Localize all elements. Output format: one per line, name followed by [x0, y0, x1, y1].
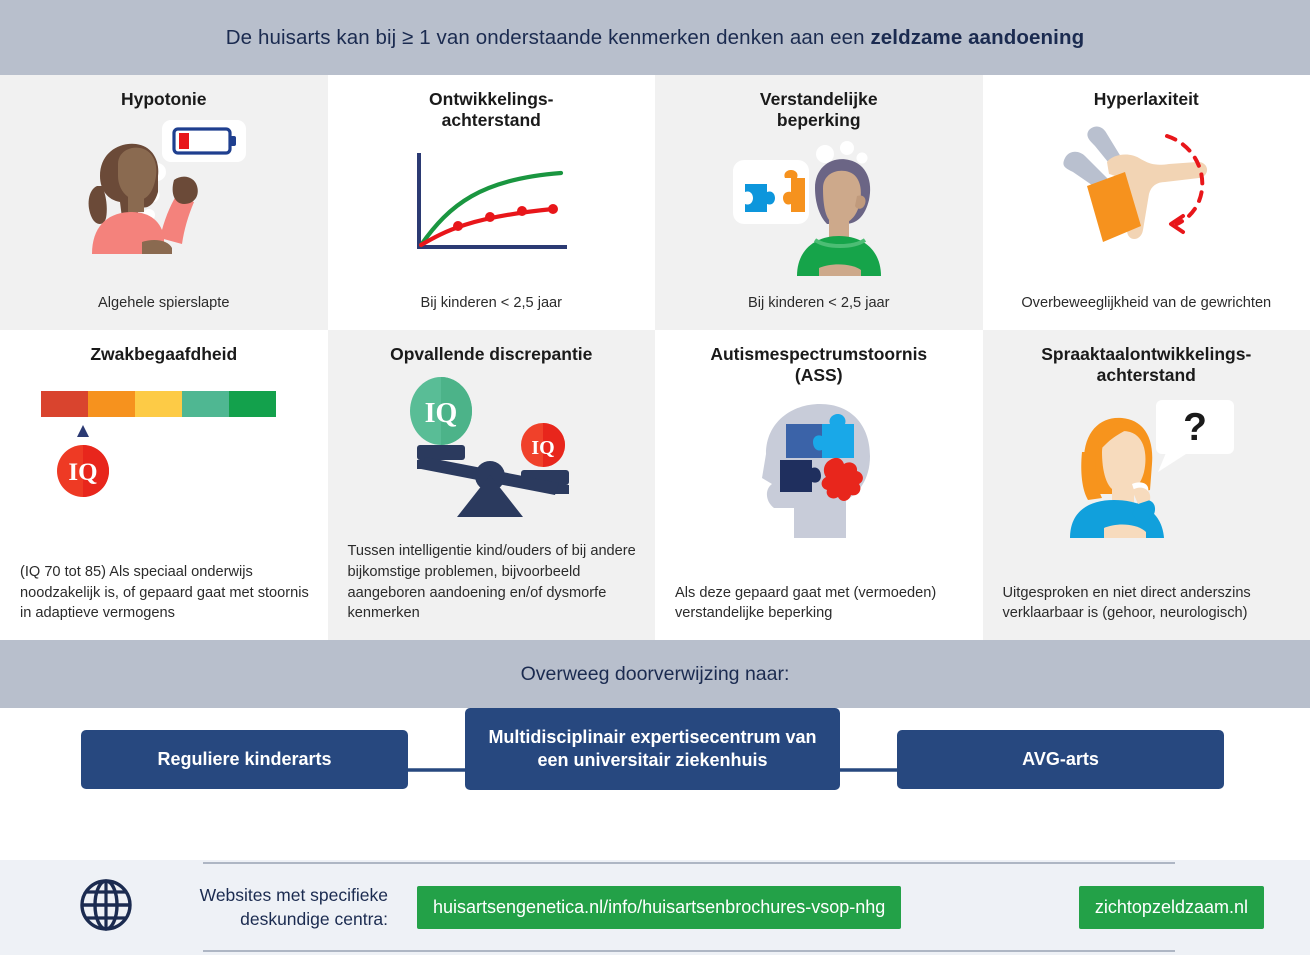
svg-text:IQ: IQ [532, 437, 555, 459]
referral-banner: Overweeg doorverwijzing naar: [0, 640, 1310, 708]
referral-option-reguliere-kinderarts[interactable]: Reguliere kinderarts [81, 730, 408, 789]
card-caption: Uitgesproken en niet direct anderszins v… [995, 583, 1299, 640]
page-title-emphasis: zeldzame aandoening [870, 26, 1084, 49]
svg-text:IQ: IQ [425, 398, 458, 429]
card-hypotonie[interactable]: Hypotonie [0, 75, 328, 330]
card-caption: Algehele spierslapte [98, 293, 229, 330]
card-caption: Bij kinderen < 2,5 jaar [748, 293, 890, 330]
referral-options-area: Reguliere kinderarts Multidisciplinair e… [0, 708, 1310, 860]
card-autismespectrumstoornis[interactable]: Autismespectrumstoornis (ASS) Als deze g… [655, 330, 983, 640]
footer-label-line-2: deskundige centra: [156, 908, 388, 931]
card-illustration [719, 136, 919, 276]
svg-text:?: ? [1183, 406, 1207, 449]
footer-divider-top [203, 862, 1175, 864]
card-hyperlaxiteit[interactable]: Hyperlaxiteit Overbeweeglijkheid van de … [983, 75, 1310, 330]
iq-gradient-scale-icon: IQ [19, 381, 309, 511]
growth-curve-chart-icon [401, 147, 581, 265]
hypermobile-hand-icon [1051, 114, 1241, 254]
card-illustration [1051, 114, 1241, 254]
card-caption: Bij kinderen < 2,5 jaar [420, 293, 562, 330]
feature-grid-row-2: Zwakbegaafdheid IQ (IQ 70 tot 85) Als sp… [0, 330, 1310, 640]
card-title: Spraaktaalontwikkelings- achterstand [1041, 344, 1251, 387]
card-caption: Tussen intelligentie kind/ouders of bij … [340, 541, 644, 640]
globe-icon [78, 877, 134, 938]
card-title: Hyperlaxiteit [1094, 89, 1199, 110]
person-thought-bubble-puzzle-icon [719, 136, 919, 276]
iq-balance-seesaw-icon: IQ IQ [391, 371, 591, 521]
referral-banner-label: Overweeg doorverwijzing naar: [521, 663, 790, 686]
card-title: Verstandelijke beperking [760, 89, 878, 132]
footer-label: Websites met specifieke deskundige centr… [156, 884, 388, 930]
link-huisartsengenetica[interactable]: huisartsengenetica.nl/info/huisartsenbro… [417, 886, 901, 929]
footer-divider-bottom [203, 950, 1175, 952]
footer: Websites met specifieke deskundige centr… [0, 860, 1310, 955]
svg-text:IQ: IQ [68, 459, 97, 486]
card-title: Autismespectrumstoornis (ASS) [710, 344, 927, 387]
footer-label-line-1: Websites met specifieke [156, 884, 388, 907]
card-verstandelijke-beperking[interactable]: Verstandelijke beperking [655, 75, 983, 330]
card-illustration: IQ [19, 371, 309, 521]
page-header: De huisarts kan bij ≥ 1 van onderstaande… [0, 0, 1310, 75]
page-title: De huisarts kan bij ≥ 1 van onderstaande… [226, 26, 1084, 50]
infographic-page: De huisarts kan bij ≥ 1 van onderstaande… [0, 0, 1310, 950]
card-caption: Overbeweeglijkheid van de gewrichten [1021, 293, 1271, 330]
card-illustration [64, 114, 264, 254]
card-title: Zwakbegaafdheid [90, 344, 237, 365]
page-title-plain: De huisarts kan bij ≥ 1 van onderstaande… [226, 26, 871, 49]
card-caption: Als deze gepaard gaat met (vermoeden) ve… [667, 583, 971, 640]
card-illustration [744, 393, 894, 543]
card-illustration [401, 136, 581, 276]
feature-grid-row-1: Hypotonie [0, 75, 1310, 330]
card-spraaktaalontwikkelingsachterstand[interactable]: Spraaktaalontwikkelings- achterstand ? [983, 330, 1310, 640]
head-puzzle-pieces-icon [744, 398, 894, 538]
card-zwakbegaafdheid[interactable]: Zwakbegaafdheid IQ (IQ 70 tot 85) Als sp… [0, 330, 328, 640]
card-illustration: IQ IQ [391, 371, 591, 521]
card-title: Opvallende discrepantie [390, 344, 592, 365]
card-ontwikkelingsachterstand[interactable]: Ontwikkelings- achterstand Bij kinderen … [328, 75, 656, 330]
card-title: Hypotonie [121, 89, 207, 110]
person-question-speech-bubble-icon: ? [1046, 398, 1246, 538]
person-flexing-arm-low-battery-icon [64, 114, 264, 254]
card-opvallende-discrepantie[interactable]: Opvallende discrepantie IQ IQ [328, 330, 656, 640]
referral-option-avg-arts[interactable]: AVG-arts [897, 730, 1224, 789]
card-title: Ontwikkelings- achterstand [429, 89, 553, 132]
card-illustration: ? [1046, 393, 1246, 543]
link-zichtopzeldzaam[interactable]: zichtopzeldzaam.nl [1079, 886, 1264, 929]
card-caption: (IQ 70 tot 85) Als speciaal onderwijs no… [12, 562, 316, 640]
referral-option-multidisciplinair-expertisecentrum[interactable]: Multidisciplinair expertisecentrum van e… [465, 708, 840, 790]
